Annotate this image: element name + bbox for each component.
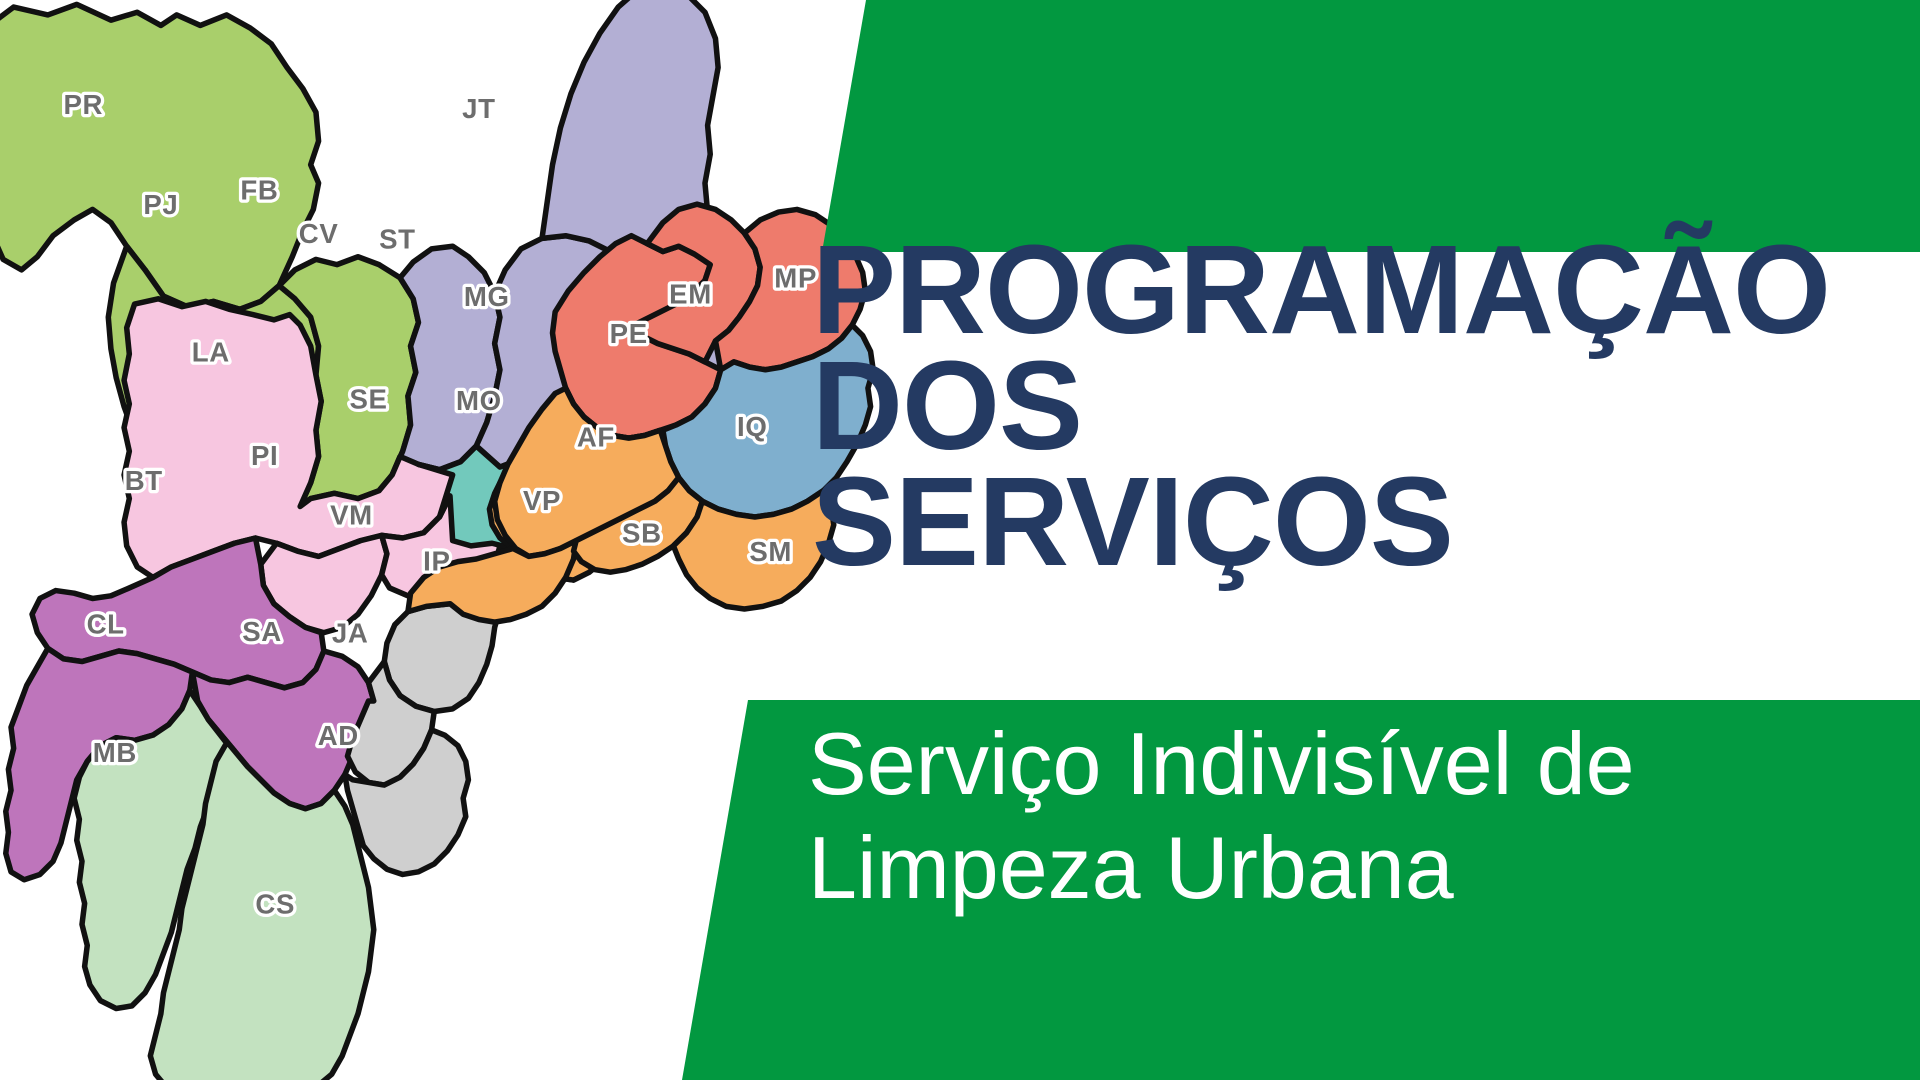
map-label-PI: PI — [251, 440, 278, 471]
map-label-PR: PR — [63, 89, 103, 120]
map-label-CV: CV — [299, 218, 339, 249]
map-label-FB: FB — [240, 175, 278, 206]
map-label-IQ: IQ — [737, 411, 767, 442]
map-label-CS: CS — [255, 888, 295, 919]
map-label-MG: MG — [464, 281, 510, 312]
map-label-ST: ST — [379, 223, 416, 254]
map-label-MB: MB — [93, 737, 137, 768]
map-label-IP: IP — [423, 545, 450, 576]
map-label-BT: BT — [125, 465, 163, 496]
map-label-LA: LA — [192, 336, 230, 367]
map-label-EM: EM — [669, 278, 712, 309]
page-subtitle: Serviço Indivisível de Limpeza Urbana — [808, 712, 1920, 920]
subtitle-line-2: Limpeza Urbana — [808, 816, 1920, 920]
map-label-VM: VM — [330, 499, 373, 530]
map-label-MP: MP — [774, 263, 817, 294]
map-label-AD: AD — [318, 720, 359, 751]
title-line-3: SERVIÇOS — [812, 464, 1920, 580]
map-label-SE: SE — [349, 384, 387, 415]
map-region-PR[interactable] — [0, 4, 319, 309]
subtitle-line-1: Serviço Indivisível de — [808, 712, 1920, 816]
map-label-JA: JA — [332, 618, 369, 649]
map-label-JT: JT — [462, 93, 496, 124]
map-label-PJ: PJ — [143, 189, 178, 220]
map-label-PE: PE — [610, 318, 648, 349]
map-label-MO: MO — [456, 385, 502, 416]
slide-canvas: PR PJ FB CV ST JT MG LA SE MO PI VM BT I… — [0, 0, 1920, 1080]
title-line-2: DOS — [812, 348, 1920, 464]
map-label-SB: SB — [622, 518, 662, 549]
title-line-1: PROGRAMAÇÃO — [812, 232, 1920, 348]
page-title: PROGRAMAÇÃO DOS SERVIÇOS — [812, 232, 1920, 580]
map-label-SA: SA — [242, 616, 282, 647]
map-label-SM: SM — [749, 536, 792, 567]
map-label-AF: AF — [577, 422, 615, 453]
map-label-CL: CL — [87, 608, 125, 639]
map-label-VP: VP — [523, 485, 561, 516]
